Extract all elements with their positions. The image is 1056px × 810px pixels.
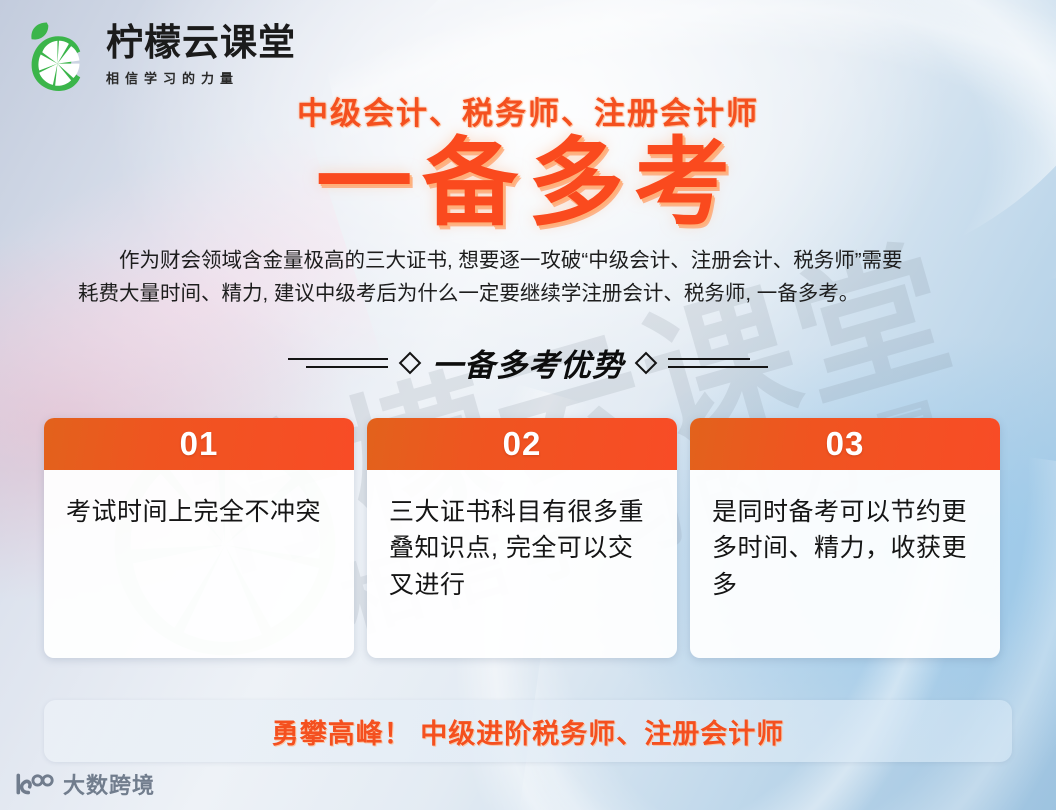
card-header: 02 bbox=[367, 418, 677, 470]
section-title: 一备多考优势 bbox=[432, 340, 624, 385]
poster-root: 柠檬云课堂 相信学习的力量 bbox=[0, 0, 1056, 810]
intro-line-1: 作为财会领域含金量极高的三大证书, 想要逐一攻破“中级会计、注册会计、税务师”需… bbox=[78, 244, 996, 277]
heading-left-rule bbox=[288, 358, 388, 368]
advantage-card[interactable]: 01 考试时间上完全不冲突 bbox=[44, 418, 354, 658]
advantage-card-list: 01 考试时间上完全不冲突 02 三大证书科目有很多重叠知识点, 完全可以交叉进… bbox=[44, 418, 1000, 658]
diamond-icon bbox=[635, 351, 658, 374]
footer-banner: 勇攀高峰！ 中级进阶税务师、注册会计师 bbox=[44, 700, 1012, 762]
card-header: 01 bbox=[44, 418, 354, 470]
card-number: 01 bbox=[180, 425, 219, 463]
k-infinity-logo-icon bbox=[14, 772, 54, 796]
footer-banner-text: 勇攀高峰！ 中级进阶税务师、注册会计师 bbox=[272, 712, 785, 751]
logo-tagline: 相信学习的力量 bbox=[106, 68, 296, 87]
section-heading: 一备多考优势 bbox=[0, 340, 1056, 385]
hero-block: 中级会计、税务师、注册会计师 一备多考 bbox=[0, 88, 1056, 233]
hero-title: 一备多考 bbox=[0, 135, 1056, 233]
card-text: 考试时间上完全不冲突 bbox=[66, 494, 332, 530]
brand-logo: 柠檬云课堂 相信学习的力量 bbox=[24, 18, 296, 94]
intro-paragraph: 作为财会领域含金量极高的三大证书, 想要逐一攻破“中级会计、注册会计、税务师”需… bbox=[78, 244, 996, 310]
card-text: 三大证书科目有很多重叠知识点, 完全可以交叉进行 bbox=[389, 494, 655, 603]
card-text: 是同时备考可以节约更多时间、精力，收获更多 bbox=[712, 494, 978, 603]
logo-title: 柠檬云课堂 bbox=[106, 24, 296, 61]
card-number: 03 bbox=[826, 425, 865, 463]
hero-subtitle: 中级会计、税务师、注册会计师 bbox=[0, 88, 1056, 133]
card-number: 02 bbox=[503, 425, 542, 463]
bottom-brand: 大数跨境 bbox=[14, 768, 155, 800]
bottom-brand-text: 大数跨境 bbox=[63, 768, 155, 800]
card-header: 03 bbox=[690, 418, 1000, 470]
card-body: 三大证书科目有很多重叠知识点, 完全可以交叉进行 bbox=[367, 470, 677, 658]
card-body: 考试时间上完全不冲突 bbox=[44, 470, 354, 658]
advantage-card[interactable]: 03 是同时备考可以节约更多时间、精力，收获更多 bbox=[690, 418, 1000, 658]
logo-text-block: 柠檬云课堂 相信学习的力量 bbox=[106, 18, 296, 87]
card-body: 是同时备考可以节约更多时间、精力，收获更多 bbox=[690, 470, 1000, 658]
lemon-slice-icon bbox=[24, 18, 100, 94]
intro-line-2: 耗费大量时间、精力, 建议中级考后为什么一定要继续学注册会计、税务师, 一备多考… bbox=[78, 277, 996, 310]
advantage-card[interactable]: 02 三大证书科目有很多重叠知识点, 完全可以交叉进行 bbox=[367, 418, 677, 658]
diamond-icon bbox=[399, 351, 422, 374]
heading-right-rule bbox=[668, 358, 768, 368]
